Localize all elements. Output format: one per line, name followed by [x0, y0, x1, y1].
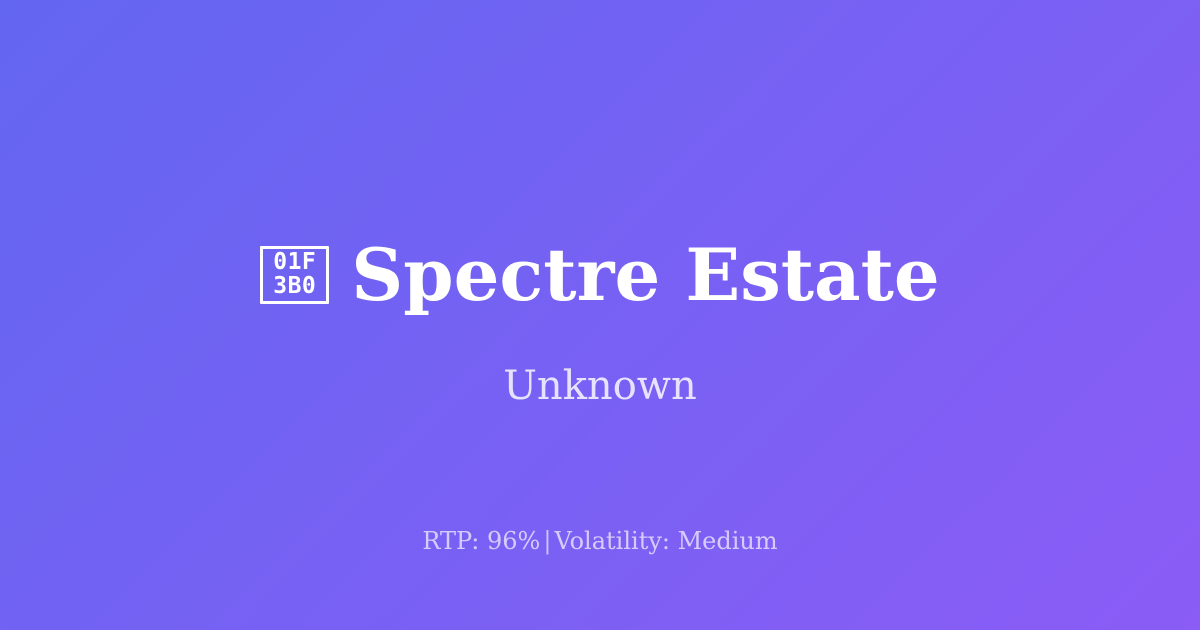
game-stats: RTP: 96%|Volatility: Medium [0, 526, 1200, 557]
slot-machine-icon-codepoint-low: 3B0 [273, 275, 316, 299]
game-provider-label: Unknown [0, 362, 1200, 410]
volatility-stat: Volatility: Medium [554, 527, 777, 555]
stats-separator: | [540, 527, 554, 555]
page-title: Spectre Estate [351, 239, 939, 311]
title-row: 01F 3B0 Spectre Estate [0, 232, 1200, 318]
game-share-card: 01F 3B0 Spectre Estate Unknown RTP: 96%|… [0, 0, 1200, 630]
slot-machine-icon: 01F 3B0 [260, 246, 329, 304]
slot-machine-icon-codepoint-high: 01F [273, 251, 316, 275]
rtp-stat: RTP: 96% [422, 527, 540, 555]
